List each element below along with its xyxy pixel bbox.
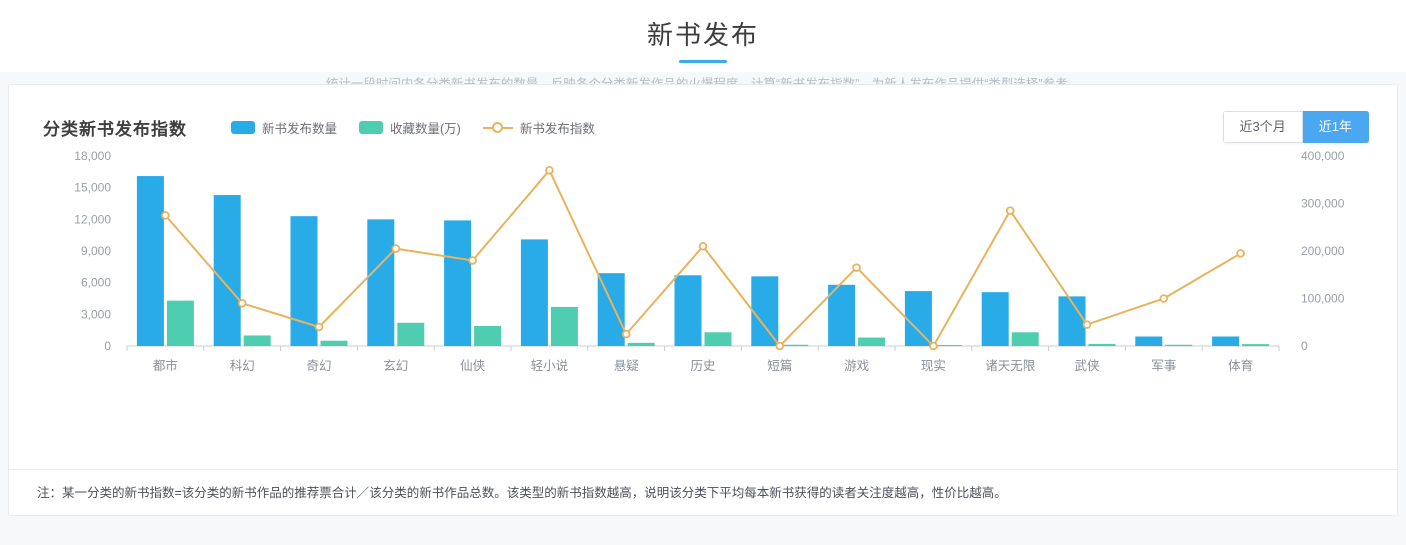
- line-point-marker[interactable]: [623, 331, 630, 338]
- y-axis-left-tick: 12,000: [74, 212, 111, 226]
- x-axis-category-label: 都市: [153, 358, 178, 373]
- bar-collect-count[interactable]: [1089, 344, 1116, 346]
- bar-new-book-count[interactable]: [444, 220, 471, 346]
- footnote-bar: 注：某一分类的新书指数=该分类的新书作品的推荐票合计／该分类的新书作品总数。该类…: [9, 469, 1397, 515]
- line-point-marker[interactable]: [776, 343, 783, 350]
- legend-line-marker-icon: [483, 121, 513, 134]
- x-axis-category-label: 武侠: [1074, 359, 1100, 373]
- bar-collect-count[interactable]: [551, 307, 578, 346]
- bar-collect-count[interactable]: [858, 338, 885, 346]
- legend-swatch-blue: [231, 121, 255, 134]
- line-point-marker[interactable]: [930, 343, 937, 350]
- chart-header: 分类新书发布指数 新书发布数量 收藏数量(万) 新书发布指数: [9, 85, 1397, 140]
- x-axis-category-label: 军事: [1151, 359, 1176, 373]
- bar-new-book-count[interactable]: [521, 239, 548, 346]
- y-axis-right-tick: 200,000: [1301, 244, 1345, 258]
- bar-collect-count[interactable]: [628, 343, 655, 346]
- bar-collect-count[interactable]: [1165, 345, 1192, 346]
- bar-new-book-count[interactable]: [367, 219, 394, 346]
- line-point-marker[interactable]: [162, 212, 169, 219]
- legend-item-collect-count[interactable]: 收藏数量(万): [359, 118, 461, 137]
- bar-collect-count[interactable]: [935, 345, 962, 346]
- footnote-text: 注：某一分类的新书指数=该分类的新书作品的推荐票合计／该分类的新书作品总数。该类…: [37, 484, 1397, 502]
- y-axis-left-tick: 3,000: [81, 307, 111, 321]
- bar-collect-count[interactable]: [167, 301, 194, 346]
- bar-new-book-count[interactable]: [751, 276, 778, 346]
- x-axis-category-label: 悬疑: [614, 358, 640, 373]
- x-axis-category-label: 玄幻: [383, 358, 408, 373]
- y-axis-right-tick: 300,000: [1301, 197, 1345, 211]
- bar-new-book-count[interactable]: [1212, 337, 1239, 347]
- x-axis-category-label: 诸天无限: [985, 359, 1036, 373]
- x-axis-category-label: 体育: [1228, 358, 1253, 373]
- bar-collect-count[interactable]: [1242, 344, 1269, 346]
- x-axis-category-label: 轻小说: [531, 358, 569, 373]
- x-axis-category-label: 现实: [921, 358, 946, 373]
- line-point-marker[interactable]: [546, 167, 553, 174]
- bar-new-book-count[interactable]: [137, 176, 164, 346]
- bar-collect-count[interactable]: [1012, 332, 1039, 346]
- chart-card: 近3个月 近1年 分类新书发布指数 新书发布数量 收藏数量(万) 新书发布指数 …: [8, 84, 1398, 516]
- chart-legend: 新书发布数量 收藏数量(万) 新书发布指数: [231, 118, 617, 137]
- chart-svg[interactable]: 03,0006,0009,00012,00015,00018,0000100,0…: [9, 148, 1397, 398]
- bar-collect-count[interactable]: [705, 332, 732, 346]
- legend-item-index[interactable]: 新书发布指数: [483, 118, 595, 137]
- bar-collect-count[interactable]: [474, 326, 501, 346]
- chart-plot-area: 03,0006,0009,00012,00015,00018,0000100,0…: [9, 148, 1397, 398]
- y-axis-left-tick: 6,000: [81, 276, 111, 290]
- line-point-marker[interactable]: [392, 245, 399, 252]
- y-axis-left-tick: 0: [104, 339, 111, 353]
- page-header: 新书发布 统计一段时间内各分类新书发布的数量，反映各个分类新发作品的火爆程度，计…: [0, 0, 1406, 72]
- chart-title: 分类新书发布指数: [43, 115, 187, 140]
- x-axis-category-label: 仙侠: [460, 359, 486, 373]
- line-point-marker[interactable]: [1007, 207, 1014, 214]
- bar-collect-count[interactable]: [781, 345, 808, 346]
- line-point-marker[interactable]: [316, 324, 323, 331]
- title-underline-rule: [679, 60, 727, 63]
- y-axis-right-tick: 0: [1301, 339, 1308, 353]
- x-axis-category-label: 短篇: [767, 358, 792, 373]
- range-toggle-group[interactable]: 近3个月 近1年: [1223, 111, 1369, 143]
- bar-new-book-count[interactable]: [1135, 337, 1162, 347]
- range-button-1year[interactable]: 近1年: [1303, 111, 1369, 143]
- legend-label-new-book-count: 新书发布数量: [262, 118, 337, 137]
- x-axis-category-label: 历史: [690, 359, 716, 373]
- legend-item-new-book-count[interactable]: 新书发布数量: [231, 118, 337, 137]
- x-axis-category-label: 游戏: [844, 359, 869, 373]
- line-point-marker[interactable]: [1160, 295, 1167, 302]
- x-axis-category-label: 奇幻: [306, 359, 331, 373]
- bar-new-book-count[interactable]: [214, 195, 241, 346]
- line-point-marker[interactable]: [1237, 250, 1244, 257]
- bar-new-book-count[interactable]: [675, 275, 702, 346]
- x-axis-category-label: 科幻: [230, 359, 255, 373]
- bar-new-book-count[interactable]: [291, 216, 318, 346]
- bar-new-book-count[interactable]: [905, 291, 932, 346]
- bar-collect-count[interactable]: [321, 341, 348, 346]
- line-point-marker[interactable]: [469, 257, 476, 264]
- range-button-3months[interactable]: 近3个月: [1223, 111, 1303, 143]
- y-axis-right-tick: 400,000: [1301, 149, 1345, 163]
- y-axis-left-tick: 9,000: [81, 244, 111, 258]
- legend-label-index: 新书发布指数: [520, 118, 595, 137]
- bar-collect-count[interactable]: [244, 335, 271, 346]
- page-title: 新书发布: [0, 18, 1406, 52]
- y-axis-right-tick: 100,000: [1301, 292, 1345, 306]
- line-point-marker[interactable]: [853, 264, 860, 271]
- legend-label-collect-count: 收藏数量(万): [390, 118, 461, 137]
- bar-collect-count[interactable]: [397, 323, 424, 346]
- legend-swatch-green: [359, 121, 383, 134]
- bar-new-book-count[interactable]: [982, 292, 1009, 346]
- y-axis-left-tick: 15,000: [74, 181, 111, 195]
- y-axis-left-tick: 18,000: [74, 149, 111, 163]
- line-point-marker[interactable]: [1084, 321, 1091, 328]
- line-point-marker[interactable]: [239, 300, 246, 307]
- line-point-marker[interactable]: [700, 243, 707, 250]
